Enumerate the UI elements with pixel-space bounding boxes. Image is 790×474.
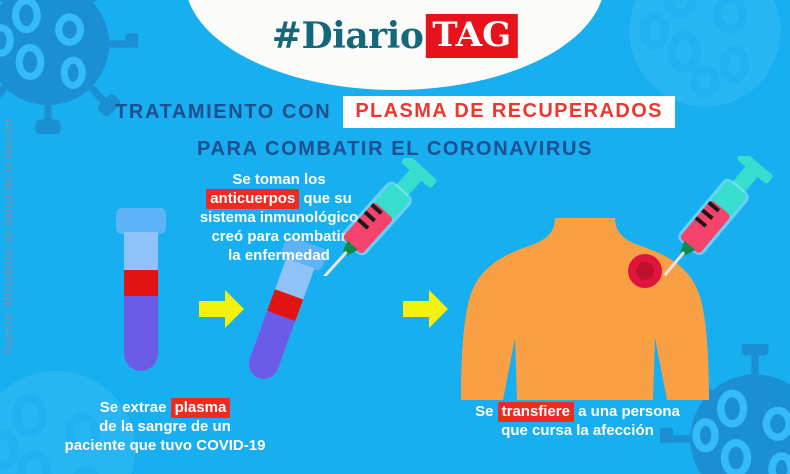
title-line-1: TRATAMIENTO CON PLASMA DE RECUPERADOS	[0, 96, 790, 128]
step-1-caption: Se extrae plasma de la sangre de un paci…	[40, 398, 290, 455]
title-plain-text: TRATAMIENTO CON	[115, 101, 331, 124]
step-1-line-2: de la sangre de un	[99, 418, 231, 435]
brand-logo: #Diario TAG	[272, 14, 518, 58]
step-3-highlight: transfiere	[498, 402, 574, 422]
step-1-highlight: plasma	[171, 398, 231, 418]
brand-name-primary: #Diario	[272, 15, 424, 57]
step-3-pre: Se	[475, 403, 498, 420]
syringe-icon	[646, 156, 776, 289]
infographic-poster: #Diario TAG TRATAMIENTO CON PLASMA DE RE…	[0, 0, 790, 474]
step-2-line-5: la enfermedad	[228, 247, 330, 264]
step-3-line-2: que cursa la afección	[501, 422, 654, 439]
step-3-post: a una persona	[574, 403, 680, 420]
brand-name-accent: TAG	[425, 14, 518, 58]
step-1-line-3: paciente que tuvo COVID-19	[65, 437, 266, 454]
test-tube-icon	[104, 208, 178, 385]
arrow-right-icon	[403, 290, 448, 333]
arrow-right-icon	[199, 290, 244, 333]
step-2-line-1: Se toman los	[232, 171, 325, 188]
step-2-highlight: anticuerpos	[206, 189, 299, 209]
step-3-caption: Se transfiere a una persona que cursa la…	[440, 402, 715, 440]
title-highlight-text: PLASMA DE RECUPERADOS	[343, 96, 675, 128]
syringe-icon	[318, 158, 438, 281]
step-1-pre: Se extrae	[100, 399, 171, 416]
page-title: TRATAMIENTO CON PLASMA DE RECUPERADOS PA…	[0, 96, 790, 161]
source-label: Fuente: Ministerio de Salud de la Nación	[3, 118, 15, 353]
